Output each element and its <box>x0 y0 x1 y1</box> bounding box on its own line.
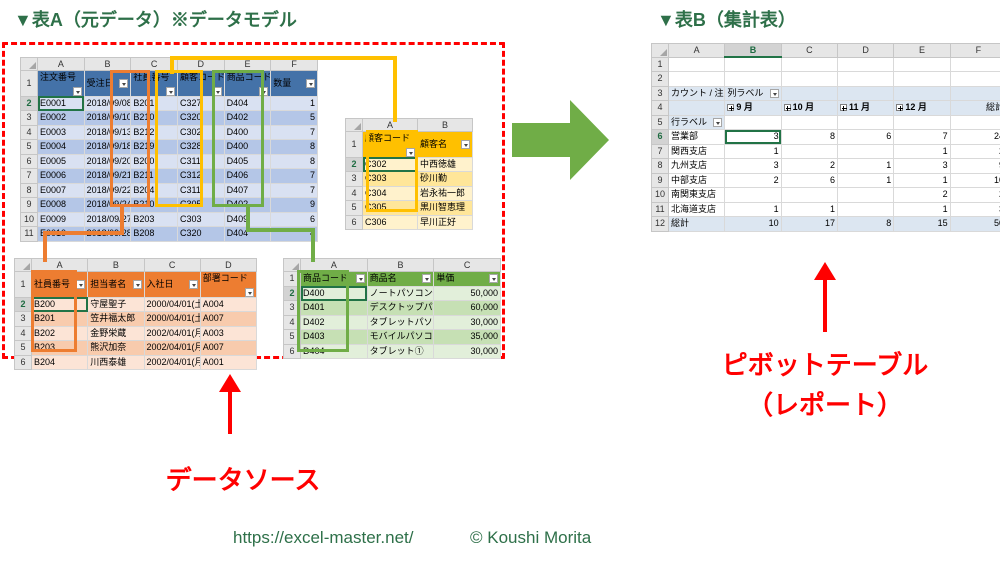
order-cell-r4-c5[interactable]: D400 <box>224 125 271 140</box>
footer-url[interactable]: https://excel-master.net/ <box>233 528 413 548</box>
column-header-f[interactable]: F <box>271 58 318 71</box>
employee-cell-r3-c1[interactable]: B201 <box>32 312 88 327</box>
column-header-b[interactable]: B <box>88 259 144 272</box>
table-row[interactable]: 5行ラベル <box>652 115 1000 130</box>
product-cell-r2-c2[interactable]: ノートパソコン① <box>367 286 434 301</box>
table-row[interactable]: 1 <box>652 57 1000 72</box>
table-row[interactable]: 2D400ノートパソコン①50,000 <box>284 286 501 301</box>
order-cell-r7-c5[interactable]: D406 <box>224 169 271 184</box>
order-cell-r8-c1[interactable]: E0007 <box>38 183 85 198</box>
column-header-a[interactable]: A <box>38 58 85 71</box>
filter-dropdown-icon[interactable] <box>770 89 779 98</box>
order-header-1[interactable]: 注文番号 <box>38 71 85 97</box>
pivot-value-r5-c1[interactable] <box>725 188 781 203</box>
table-row[interactable]: 10E00092018/09/27(木)B203C303D4096 <box>21 212 318 227</box>
order-cell-r3-c2[interactable]: 2018/09/10(月) <box>84 111 131 126</box>
order-cell-r10-c3[interactable]: B203 <box>131 212 178 227</box>
customer-cell-r4-c2[interactable]: 岩永祐一郎 <box>418 186 473 201</box>
row-header-3[interactable]: 3 <box>652 86 669 101</box>
product-cell-r5-c3[interactable]: 35,000 <box>434 330 501 345</box>
order-cell-r10-c2[interactable]: 2018/09/27(木) <box>84 212 131 227</box>
order-cell-r11-c4[interactable]: C320 <box>177 227 224 242</box>
pivot-value-r5-c3[interactable] <box>837 188 893 203</box>
pivot-value-r2-c1[interactable]: 1 <box>725 144 781 159</box>
pivot-blank-cell[interactable] <box>950 57 1000 72</box>
pivot-value-r3-c2[interactable]: 2 <box>781 159 837 174</box>
row-header-1[interactable]: 1 <box>284 272 301 287</box>
table-row[interactable]: 1注文番号受注日社員番号顧客コード商品コード数量 <box>21 71 318 97</box>
table-row[interactable]: 11E00102018/09/28(金)B208C320D4044 <box>21 227 318 242</box>
table-row[interactable]: 5B203熊沢加奈2002/04/01(月)A007 <box>15 341 257 356</box>
row-header-3[interactable]: 3 <box>346 172 363 187</box>
table-row[interactable]: 9中部支店261110 <box>652 173 1000 188</box>
product-cell-r2-c1[interactable]: D400 <box>301 286 368 301</box>
product-cell-r6-c1[interactable]: D404 <box>301 344 368 359</box>
employee-cell-r2-c4[interactable]: A004 <box>200 297 256 312</box>
expand-icon[interactable] <box>784 104 791 111</box>
order-cell-r11-c1[interactable]: E0010 <box>38 227 85 242</box>
row-header-9[interactable]: 9 <box>652 173 669 188</box>
customer-cell-r5-c1[interactable]: C305 <box>363 201 418 216</box>
filter-dropdown-icon[interactable] <box>119 79 128 88</box>
order-cell-r8-c3[interactable]: B204 <box>131 183 178 198</box>
table-row[interactable]: 5E00042018/09/18(火)B219C328D4008 <box>21 140 318 155</box>
row-header-2[interactable]: 2 <box>15 297 32 312</box>
table-row[interactable]: 7E00062018/09/21(金)B211C312D4067 <box>21 169 318 184</box>
row-header-1[interactable]: 1 <box>652 57 669 72</box>
table-row[interactable]: 2B200守屋聖子2000/04/01(土)A004 <box>15 297 257 312</box>
product-cell-r5-c2[interactable]: モバイルパソコン① <box>367 330 434 345</box>
row-header-5[interactable]: 5 <box>284 330 301 345</box>
pivot-row-labels-filter[interactable]: 行ラベル <box>669 115 725 130</box>
row-header-1[interactable]: 1 <box>346 132 363 158</box>
table-row[interactable]: 6営業部386724 <box>652 130 1000 145</box>
table-row[interactable]: 6B204川西泰雄2002/04/01(月)A001 <box>15 355 257 370</box>
table-row[interactable]: 8E00072018/09/22(土)B204C311D4077 <box>21 183 318 198</box>
column-header-d[interactable]: D <box>837 44 893 58</box>
order-cell-r4-c6[interactable]: 7 <box>271 125 318 140</box>
order-cell-r4-c3[interactable]: B212 <box>131 125 178 140</box>
order-cell-r8-c6[interactable]: 7 <box>271 183 318 198</box>
customer-cell-r3-c2[interactable]: 砂川勤 <box>418 172 473 187</box>
pivot-value-r6-c2[interactable]: 1 <box>781 202 837 217</box>
column-header-c[interactable]: C <box>434 259 501 272</box>
pivot-value-field-label[interactable]: カウント / 注文番号 <box>669 86 725 101</box>
order-cell-r4-c2[interactable]: 2018/09/13(木) <box>84 125 131 140</box>
pivot-column-labels-filter[interactable]: 列ラベル <box>725 86 781 101</box>
table-row[interactable]: 3E00022018/09/10(月)B210C320D4025 <box>21 111 318 126</box>
order-cell-r10-c4[interactable]: C303 <box>177 212 224 227</box>
employee-cell-r5-c2[interactable]: 熊沢加奈 <box>88 341 144 356</box>
employee-header-3[interactable]: 入社日 <box>144 272 200 298</box>
pivot-value-r6-c4[interactable]: 1 <box>894 202 950 217</box>
row-header-5[interactable]: 5 <box>346 201 363 216</box>
table-row[interactable]: 3C303砂川勤 <box>346 172 473 187</box>
select-all-corner[interactable] <box>652 44 669 58</box>
pivot-column-header-1[interactable]: 9 月 <box>725 101 781 116</box>
order-header-2[interactable]: 受注日 <box>84 71 131 97</box>
order-cell-r7-c6[interactable]: 7 <box>271 169 318 184</box>
product-cell-r2-c3[interactable]: 50,000 <box>434 286 501 301</box>
pivot-row-total-1[interactable]: 24 <box>950 130 1000 145</box>
order-cell-r5-c4[interactable]: C328 <box>177 140 224 155</box>
filter-dropdown-icon[interactable] <box>422 274 431 283</box>
order-cell-r7-c1[interactable]: E0006 <box>38 169 85 184</box>
column-header-d[interactable]: D <box>200 259 256 272</box>
order-cell-r3-c1[interactable]: E0002 <box>38 111 85 126</box>
row-header-4[interactable]: 4 <box>15 326 32 341</box>
product-cell-r3-c3[interactable]: 60,000 <box>434 301 501 316</box>
row-header-5[interactable]: 5 <box>652 115 669 130</box>
column-header-f[interactable]: F <box>950 44 1000 58</box>
row-header-4[interactable]: 4 <box>652 101 669 116</box>
order-cell-r9-c5[interactable]: D402 <box>224 198 271 213</box>
pivot-grand-total-header[interactable]: 総計 <box>950 101 1000 116</box>
order-cell-r3-c5[interactable]: D402 <box>224 111 271 126</box>
table-row[interactable]: 2C302中西徳雄 <box>346 157 473 172</box>
row-header-11[interactable]: 11 <box>21 227 38 242</box>
filter-dropdown-icon[interactable] <box>489 274 498 283</box>
product-cell-r6-c3[interactable]: 30,000 <box>434 344 501 359</box>
pivot-blank-cell[interactable] <box>725 72 781 87</box>
row-header-2[interactable]: 2 <box>652 72 669 87</box>
customer-table[interactable]: AB1顧客コード顧客名2C302中西徳雄3C303砂川勤4C304岩永祐一郎5C… <box>345 118 473 230</box>
table-row[interactable]: 11北海道支店1113 <box>652 202 1000 217</box>
customer-cell-r6-c2[interactable]: 早川正好 <box>418 215 473 230</box>
table-row[interactable]: 3カウント / 注文番号列ラベル <box>652 86 1000 101</box>
row-header-1[interactable]: 1 <box>15 272 32 298</box>
pivot-row-label-3[interactable]: 九州支店 <box>669 159 725 174</box>
column-header-e[interactable]: E <box>894 44 950 58</box>
order-cell-r11-c2[interactable]: 2018/09/28(金) <box>84 227 131 242</box>
pivot-value-r1-c3[interactable]: 6 <box>837 130 893 145</box>
filter-dropdown-icon[interactable] <box>356 274 365 283</box>
row-header-4[interactable]: 4 <box>284 315 301 330</box>
pivot-value-r1-c2[interactable]: 8 <box>781 130 837 145</box>
order-cell-r4-c4[interactable]: C302 <box>177 125 224 140</box>
row-header-7[interactable]: 7 <box>652 144 669 159</box>
row-header-6[interactable]: 6 <box>346 215 363 230</box>
pivot-value-r1-c1[interactable]: 3 <box>725 130 781 145</box>
pivot-blank-cell[interactable] <box>837 86 893 101</box>
order-cell-r3-c3[interactable]: B210 <box>131 111 178 126</box>
expand-icon[interactable] <box>727 104 734 111</box>
order-header-6[interactable]: 数量 <box>271 71 318 97</box>
column-header-a[interactable]: A <box>363 119 418 132</box>
order-cell-r11-c6[interactable]: 4 <box>271 227 318 242</box>
table-row[interactable]: 2 <box>652 72 1000 87</box>
pivot-value-r2-c3[interactable] <box>837 144 893 159</box>
order-cell-r11-c5[interactable]: D404 <box>224 227 271 242</box>
row-header-5[interactable]: 5 <box>15 341 32 356</box>
order-cell-r2-c1[interactable]: E0001 <box>38 96 85 111</box>
row-header-1[interactable]: 1 <box>21 71 38 97</box>
pivot-value-r6-c1[interactable]: 1 <box>725 202 781 217</box>
employee-cell-r3-c2[interactable]: 笠井福太郎 <box>88 312 144 327</box>
select-all-corner[interactable] <box>15 259 32 272</box>
column-header-e[interactable]: E <box>224 58 271 71</box>
order-cell-r5-c6[interactable]: 8 <box>271 140 318 155</box>
row-header-5[interactable]: 5 <box>21 140 38 155</box>
employee-header-1[interactable]: 社員番号 <box>32 272 88 298</box>
customer-cell-r3-c1[interactable]: C303 <box>363 172 418 187</box>
filter-dropdown-icon[interactable] <box>76 280 85 289</box>
pivot-table[interactable]: ABCDEF123カウント / 注文番号列ラベル49 月10 月11 月12 月… <box>651 43 1000 232</box>
order-cell-r9-c3[interactable]: B210 <box>131 198 178 213</box>
order-cell-r8-c4[interactable]: C311 <box>177 183 224 198</box>
row-header-7[interactable]: 7 <box>21 169 38 184</box>
filter-dropdown-icon[interactable] <box>189 280 198 289</box>
order-cell-r6-c1[interactable]: E0005 <box>38 154 85 169</box>
pivot-value-r1-c4[interactable]: 7 <box>894 130 950 145</box>
column-header-b[interactable]: B <box>418 119 473 132</box>
pivot-blank-cell[interactable] <box>725 115 781 130</box>
pivot-blank-cell[interactable] <box>950 86 1000 101</box>
order-cell-r6-c4[interactable]: C311 <box>177 154 224 169</box>
pivot-row-label-2[interactable]: 関西支店 <box>669 144 725 159</box>
filter-dropdown-icon[interactable] <box>245 288 254 297</box>
column-header-b[interactable]: B <box>725 44 781 58</box>
customer-cell-r2-c2[interactable]: 中西徳雄 <box>418 157 473 172</box>
pivot-row-total-4[interactable]: 10 <box>950 173 1000 188</box>
pivot-column-total-2[interactable]: 17 <box>781 217 837 232</box>
order-cell-r6-c6[interactable]: 8 <box>271 154 318 169</box>
pivot-blank-cell[interactable] <box>894 86 950 101</box>
table-row[interactable]: 3B201笠井福太郎2000/04/01(土)A007 <box>15 312 257 327</box>
order-header-4[interactable]: 顧客コード <box>177 71 224 97</box>
table-row[interactable]: 5D403モバイルパソコン①35,000 <box>284 330 501 345</box>
column-header-a[interactable]: A <box>301 259 368 272</box>
pivot-column-total-1[interactable]: 10 <box>725 217 781 232</box>
customer-header-1[interactable]: 顧客コード <box>363 132 418 158</box>
pivot-blank-cell[interactable] <box>781 57 837 72</box>
employee-cell-r2-c3[interactable]: 2000/04/01(土) <box>144 297 200 312</box>
order-table[interactable]: ABCDEF1注文番号受注日社員番号顧客コード商品コード数量2E00012018… <box>20 57 318 242</box>
order-cell-r9-c4[interactable]: C305 <box>177 198 224 213</box>
column-header-a[interactable]: A <box>32 259 88 272</box>
order-cell-r9-c2[interactable]: 2018/09/24(月) <box>84 198 131 213</box>
order-cell-r10-c6[interactable]: 6 <box>271 212 318 227</box>
filter-dropdown-icon[interactable] <box>461 140 470 149</box>
order-cell-r4-c1[interactable]: E0003 <box>38 125 85 140</box>
order-cell-r2-c6[interactable]: 1 <box>271 96 318 111</box>
order-header-3[interactable]: 社員番号 <box>131 71 178 97</box>
row-header-4[interactable]: 4 <box>21 125 38 140</box>
row-header-2[interactable]: 2 <box>284 286 301 301</box>
row-header-6[interactable]: 6 <box>15 355 32 370</box>
employee-cell-r6-c4[interactable]: A001 <box>200 355 256 370</box>
pivot-blank-cell[interactable] <box>781 86 837 101</box>
pivot-row-label-1[interactable]: 営業部 <box>669 130 725 145</box>
table-row[interactable]: 1顧客コード顧客名 <box>346 132 473 158</box>
customer-cell-r5-c2[interactable]: 黒川智恵理 <box>418 201 473 216</box>
employee-cell-r3-c4[interactable]: A007 <box>200 312 256 327</box>
pivot-column-total-3[interactable]: 8 <box>837 217 893 232</box>
employee-header-4[interactable]: 部署コード <box>200 272 256 298</box>
product-cell-r3-c1[interactable]: D401 <box>301 301 368 316</box>
select-all-corner[interactable] <box>284 259 301 272</box>
row-header-2[interactable]: 2 <box>21 96 38 111</box>
product-header-1[interactable]: 商品コード <box>301 272 368 287</box>
pivot-blank-cell[interactable] <box>894 72 950 87</box>
customer-cell-r6-c1[interactable]: C306 <box>363 215 418 230</box>
pivot-row-total-5[interactable]: 2 <box>950 188 1000 203</box>
row-header-8[interactable]: 8 <box>652 159 669 174</box>
table-row[interactable]: 4E00032018/09/13(木)B212C302D4007 <box>21 125 318 140</box>
table-row[interactable]: 6C306早川正好 <box>346 215 473 230</box>
order-cell-r9-c6[interactable]: 9 <box>271 198 318 213</box>
product-table[interactable]: ABC1商品コード商品名単価2D400ノートパソコン①50,0003D401デス… <box>283 258 501 359</box>
employee-cell-r4-c1[interactable]: B202 <box>32 326 88 341</box>
row-header-6[interactable]: 6 <box>652 130 669 145</box>
order-cell-r10-c1[interactable]: E0009 <box>38 212 85 227</box>
filter-dropdown-icon[interactable] <box>259 87 268 96</box>
row-header-10[interactable]: 10 <box>21 212 38 227</box>
expand-icon[interactable] <box>840 104 847 111</box>
pivot-value-r3-c3[interactable]: 1 <box>837 159 893 174</box>
select-all-corner[interactable] <box>346 119 363 132</box>
row-header-2[interactable]: 2 <box>346 157 363 172</box>
order-cell-r10-c5[interactable]: D409 <box>224 212 271 227</box>
pivot-value-r2-c4[interactable]: 1 <box>894 144 950 159</box>
order-cell-r5-c5[interactable]: D400 <box>224 140 271 155</box>
employee-cell-r4-c4[interactable]: A003 <box>200 326 256 341</box>
order-cell-r5-c1[interactable]: E0004 <box>38 140 85 155</box>
pivot-row-total-2[interactable]: 2 <box>950 144 1000 159</box>
row-header-12[interactable]: 12 <box>652 217 669 232</box>
order-cell-r6-c5[interactable]: D405 <box>224 154 271 169</box>
order-cell-r7-c2[interactable]: 2018/09/21(金) <box>84 169 131 184</box>
pivot-row-label-5[interactable]: 南関東支店 <box>669 188 725 203</box>
pivot-blank-cell[interactable] <box>781 115 837 130</box>
pivot-blank-cell[interactable] <box>669 72 725 87</box>
order-cell-r5-c2[interactable]: 2018/09/18(火) <box>84 140 131 155</box>
pivot-column-header-2[interactable]: 10 月 <box>781 101 837 116</box>
pivot-value-r4-c1[interactable]: 2 <box>725 173 781 188</box>
order-cell-r2-c5[interactable]: D404 <box>224 96 271 111</box>
filter-dropdown-icon[interactable] <box>713 118 722 127</box>
table-row[interactable]: 12総計101781550 <box>652 217 1000 232</box>
column-header-b[interactable]: B <box>367 259 434 272</box>
row-header-8[interactable]: 8 <box>21 183 38 198</box>
employee-cell-r4-c3[interactable]: 2002/04/01(月) <box>144 326 200 341</box>
employee-cell-r5-c3[interactable]: 2002/04/01(月) <box>144 341 200 356</box>
employee-cell-r3-c3[interactable]: 2000/04/01(土) <box>144 312 200 327</box>
select-all-corner[interactable] <box>21 58 38 71</box>
table-row[interactable]: 2E00012018/09/08(土)B201C327D4041 <box>21 96 318 111</box>
pivot-value-r4-c2[interactable]: 6 <box>781 173 837 188</box>
row-header-3[interactable]: 3 <box>284 301 301 316</box>
product-cell-r4-c2[interactable]: タブレットパソコン① <box>367 315 434 330</box>
column-header-c[interactable]: C <box>781 44 837 58</box>
pivot-blank-cell[interactable] <box>837 57 893 72</box>
table-row[interactable]: 6E00052018/09/20(木)B200C311D4058 <box>21 154 318 169</box>
employee-cell-r6-c2[interactable]: 川西泰雄 <box>88 355 144 370</box>
pivot-value-r5-c4[interactable]: 2 <box>894 188 950 203</box>
order-cell-r8-c2[interactable]: 2018/09/22(土) <box>84 183 131 198</box>
pivot-column-header-4[interactable]: 12 月 <box>894 101 950 116</box>
pivot-value-r4-c3[interactable]: 1 <box>837 173 893 188</box>
table-row[interactable]: 10南関東支店22 <box>652 188 1000 203</box>
employee-cell-r4-c2[interactable]: 金野栄蔵 <box>88 326 144 341</box>
order-cell-r9-c1[interactable]: E0008 <box>38 198 85 213</box>
employee-cell-r5-c1[interactable]: B203 <box>32 341 88 356</box>
product-cell-r5-c1[interactable]: D403 <box>301 330 368 345</box>
row-header-9[interactable]: 9 <box>21 198 38 213</box>
product-header-2[interactable]: 商品名 <box>367 272 434 287</box>
order-header-5[interactable]: 商品コード <box>224 71 271 97</box>
order-cell-r11-c3[interactable]: B208 <box>131 227 178 242</box>
pivot-row-label-4[interactable]: 中部支店 <box>669 173 725 188</box>
table-row[interactable]: 5C305黒川智恵理 <box>346 201 473 216</box>
pivot-blank-cell[interactable] <box>950 115 1000 130</box>
pivot-column-total-4[interactable]: 15 <box>894 217 950 232</box>
table-row[interactable]: 6D404タブレット①30,000 <box>284 344 501 359</box>
table-row[interactable]: 9E00082018/09/24(月)B210C305D4029 <box>21 198 318 213</box>
table-row[interactable]: 7関西支店112 <box>652 144 1000 159</box>
pivot-totals-label[interactable]: 総計 <box>669 217 725 232</box>
employee-cell-r6-c1[interactable]: B204 <box>32 355 88 370</box>
order-cell-r3-c6[interactable]: 5 <box>271 111 318 126</box>
order-cell-r8-c5[interactable]: D407 <box>224 183 271 198</box>
filter-dropdown-icon[interactable] <box>213 87 222 96</box>
pivot-grand-total[interactable]: 50 <box>950 217 1000 232</box>
row-header-3[interactable]: 3 <box>21 111 38 126</box>
expand-icon[interactable] <box>896 104 903 111</box>
pivot-blank-cell[interactable] <box>894 57 950 72</box>
product-cell-r4-c3[interactable]: 30,000 <box>434 315 501 330</box>
product-header-3[interactable]: 単価 <box>434 272 501 287</box>
pivot-value-r5-c2[interactable] <box>781 188 837 203</box>
table-row[interactable]: 49 月10 月11 月12 月総計 <box>652 101 1000 116</box>
pivot-blank-cell[interactable] <box>950 72 1000 87</box>
order-cell-r7-c4[interactable]: C312 <box>177 169 224 184</box>
employee-header-2[interactable]: 担当者名 <box>88 272 144 298</box>
row-header-6[interactable]: 6 <box>21 154 38 169</box>
table-row[interactable]: 3D401デスクトップパソコン①60,000 <box>284 301 501 316</box>
filter-dropdown-icon[interactable] <box>73 87 82 96</box>
table-row[interactable]: 1商品コード商品名単価 <box>284 272 501 287</box>
table-row[interactable]: 4C304岩永祐一郎 <box>346 186 473 201</box>
filter-dropdown-icon[interactable] <box>306 79 315 88</box>
employee-cell-r2-c1[interactable]: B200 <box>32 297 88 312</box>
filter-dropdown-icon[interactable] <box>166 87 175 96</box>
employee-table[interactable]: ABCD1社員番号担当者名入社日部署コード2B200守屋聖子2000/04/01… <box>14 258 257 370</box>
pivot-blank-cell[interactable] <box>837 115 893 130</box>
order-cell-r7-c3[interactable]: B211 <box>131 169 178 184</box>
column-header-c[interactable]: C <box>144 259 200 272</box>
row-header-11[interactable]: 11 <box>652 202 669 217</box>
order-cell-r6-c2[interactable]: 2018/09/20(木) <box>84 154 131 169</box>
customer-cell-r2-c1[interactable]: C302 <box>363 157 418 172</box>
employee-cell-r5-c4[interactable]: A007 <box>200 341 256 356</box>
pivot-row-total-3[interactable]: 9 <box>950 159 1000 174</box>
pivot-blank-cell[interactable] <box>894 115 950 130</box>
row-header-3[interactable]: 3 <box>15 312 32 327</box>
product-cell-r6-c2[interactable]: タブレット① <box>367 344 434 359</box>
order-cell-r2-c3[interactable]: B201 <box>131 96 178 111</box>
pivot-blank-cell[interactable] <box>725 57 781 72</box>
table-row[interactable]: 4D402タブレットパソコン①30,000 <box>284 315 501 330</box>
filter-dropdown-icon[interactable] <box>406 148 415 157</box>
row-header-4[interactable]: 4 <box>346 186 363 201</box>
pivot-value-r6-c3[interactable] <box>837 202 893 217</box>
pivot-row-total-6[interactable]: 3 <box>950 202 1000 217</box>
pivot-blank-cell[interactable] <box>781 72 837 87</box>
table-row[interactable]: 1社員番号担当者名入社日部署コード <box>15 272 257 298</box>
employee-cell-r6-c3[interactable]: 2002/04/01(月) <box>144 355 200 370</box>
order-cell-r3-c4[interactable]: C320 <box>177 111 224 126</box>
